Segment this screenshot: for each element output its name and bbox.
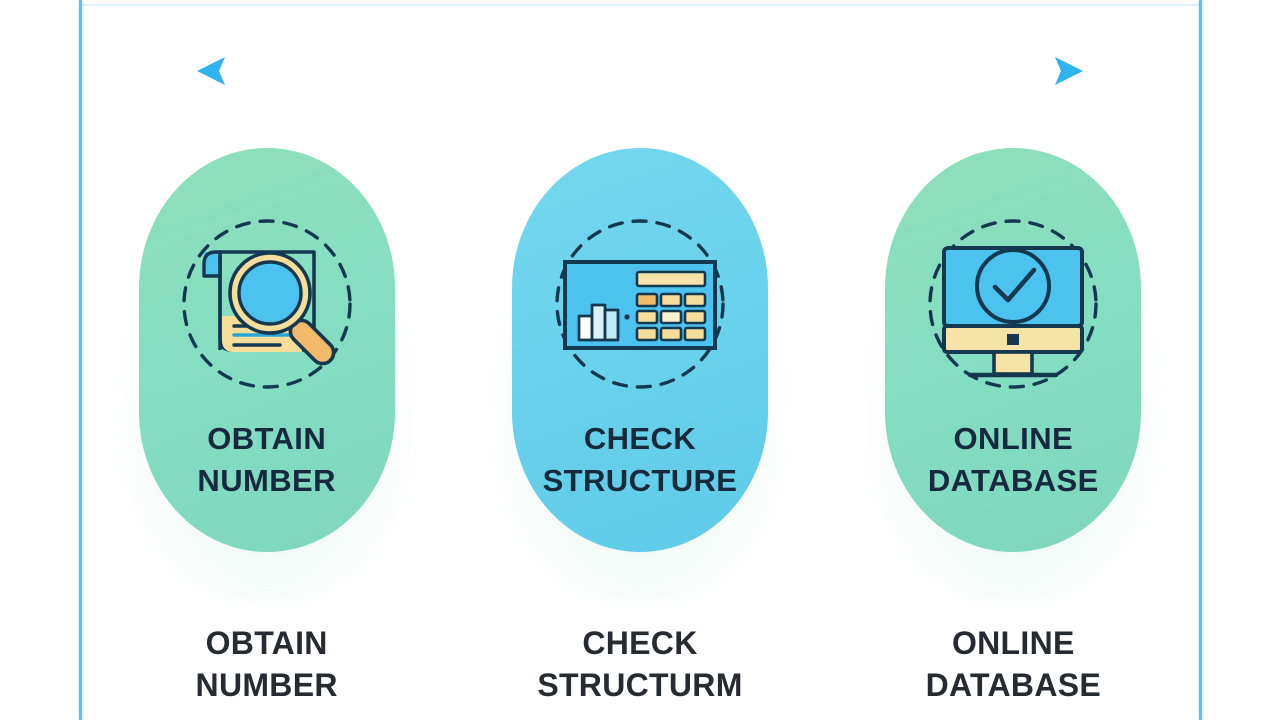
step-card-online-database[interactable]: ONLINE DATABASE xyxy=(868,148,1158,568)
captions-row: OBTAIN NUMBER CHECK STRUCTURM ONLINE DAT… xyxy=(80,622,1200,720)
step-pill-obtain-number[interactable]: OBTAIN NUMBER xyxy=(139,148,395,552)
table-structure-icon xyxy=(535,204,745,404)
pill-label: OBTAIN NUMBER xyxy=(147,418,387,502)
pill-label: CHECK STRUCTURE xyxy=(520,418,760,502)
step-pill-online-database[interactable]: ONLINE DATABASE xyxy=(885,148,1141,552)
top-border-rule xyxy=(82,4,1199,6)
infographic-canvas: OBTAIN NUMBER xyxy=(0,0,1280,720)
double-headed-arrow xyxy=(195,50,1085,92)
pill-label: ONLINE DATABASE xyxy=(893,418,1133,502)
monitor-check-icon xyxy=(908,204,1118,404)
step-caption-online-database: ONLINE DATABASE xyxy=(868,622,1158,706)
step-card-obtain-number[interactable]: OBTAIN NUMBER xyxy=(122,148,412,568)
step-caption-check-structure: CHECK STRUCTURM xyxy=(495,622,785,706)
step-card-check-structure[interactable]: CHECK STRUCTURE xyxy=(495,148,785,568)
step-caption-obtain-number: OBTAIN NUMBER xyxy=(122,622,412,706)
document-magnifier-icon xyxy=(162,204,372,404)
step-pill-check-structure[interactable]: CHECK STRUCTURE xyxy=(512,148,768,552)
steps-row: OBTAIN NUMBER xyxy=(80,148,1200,588)
